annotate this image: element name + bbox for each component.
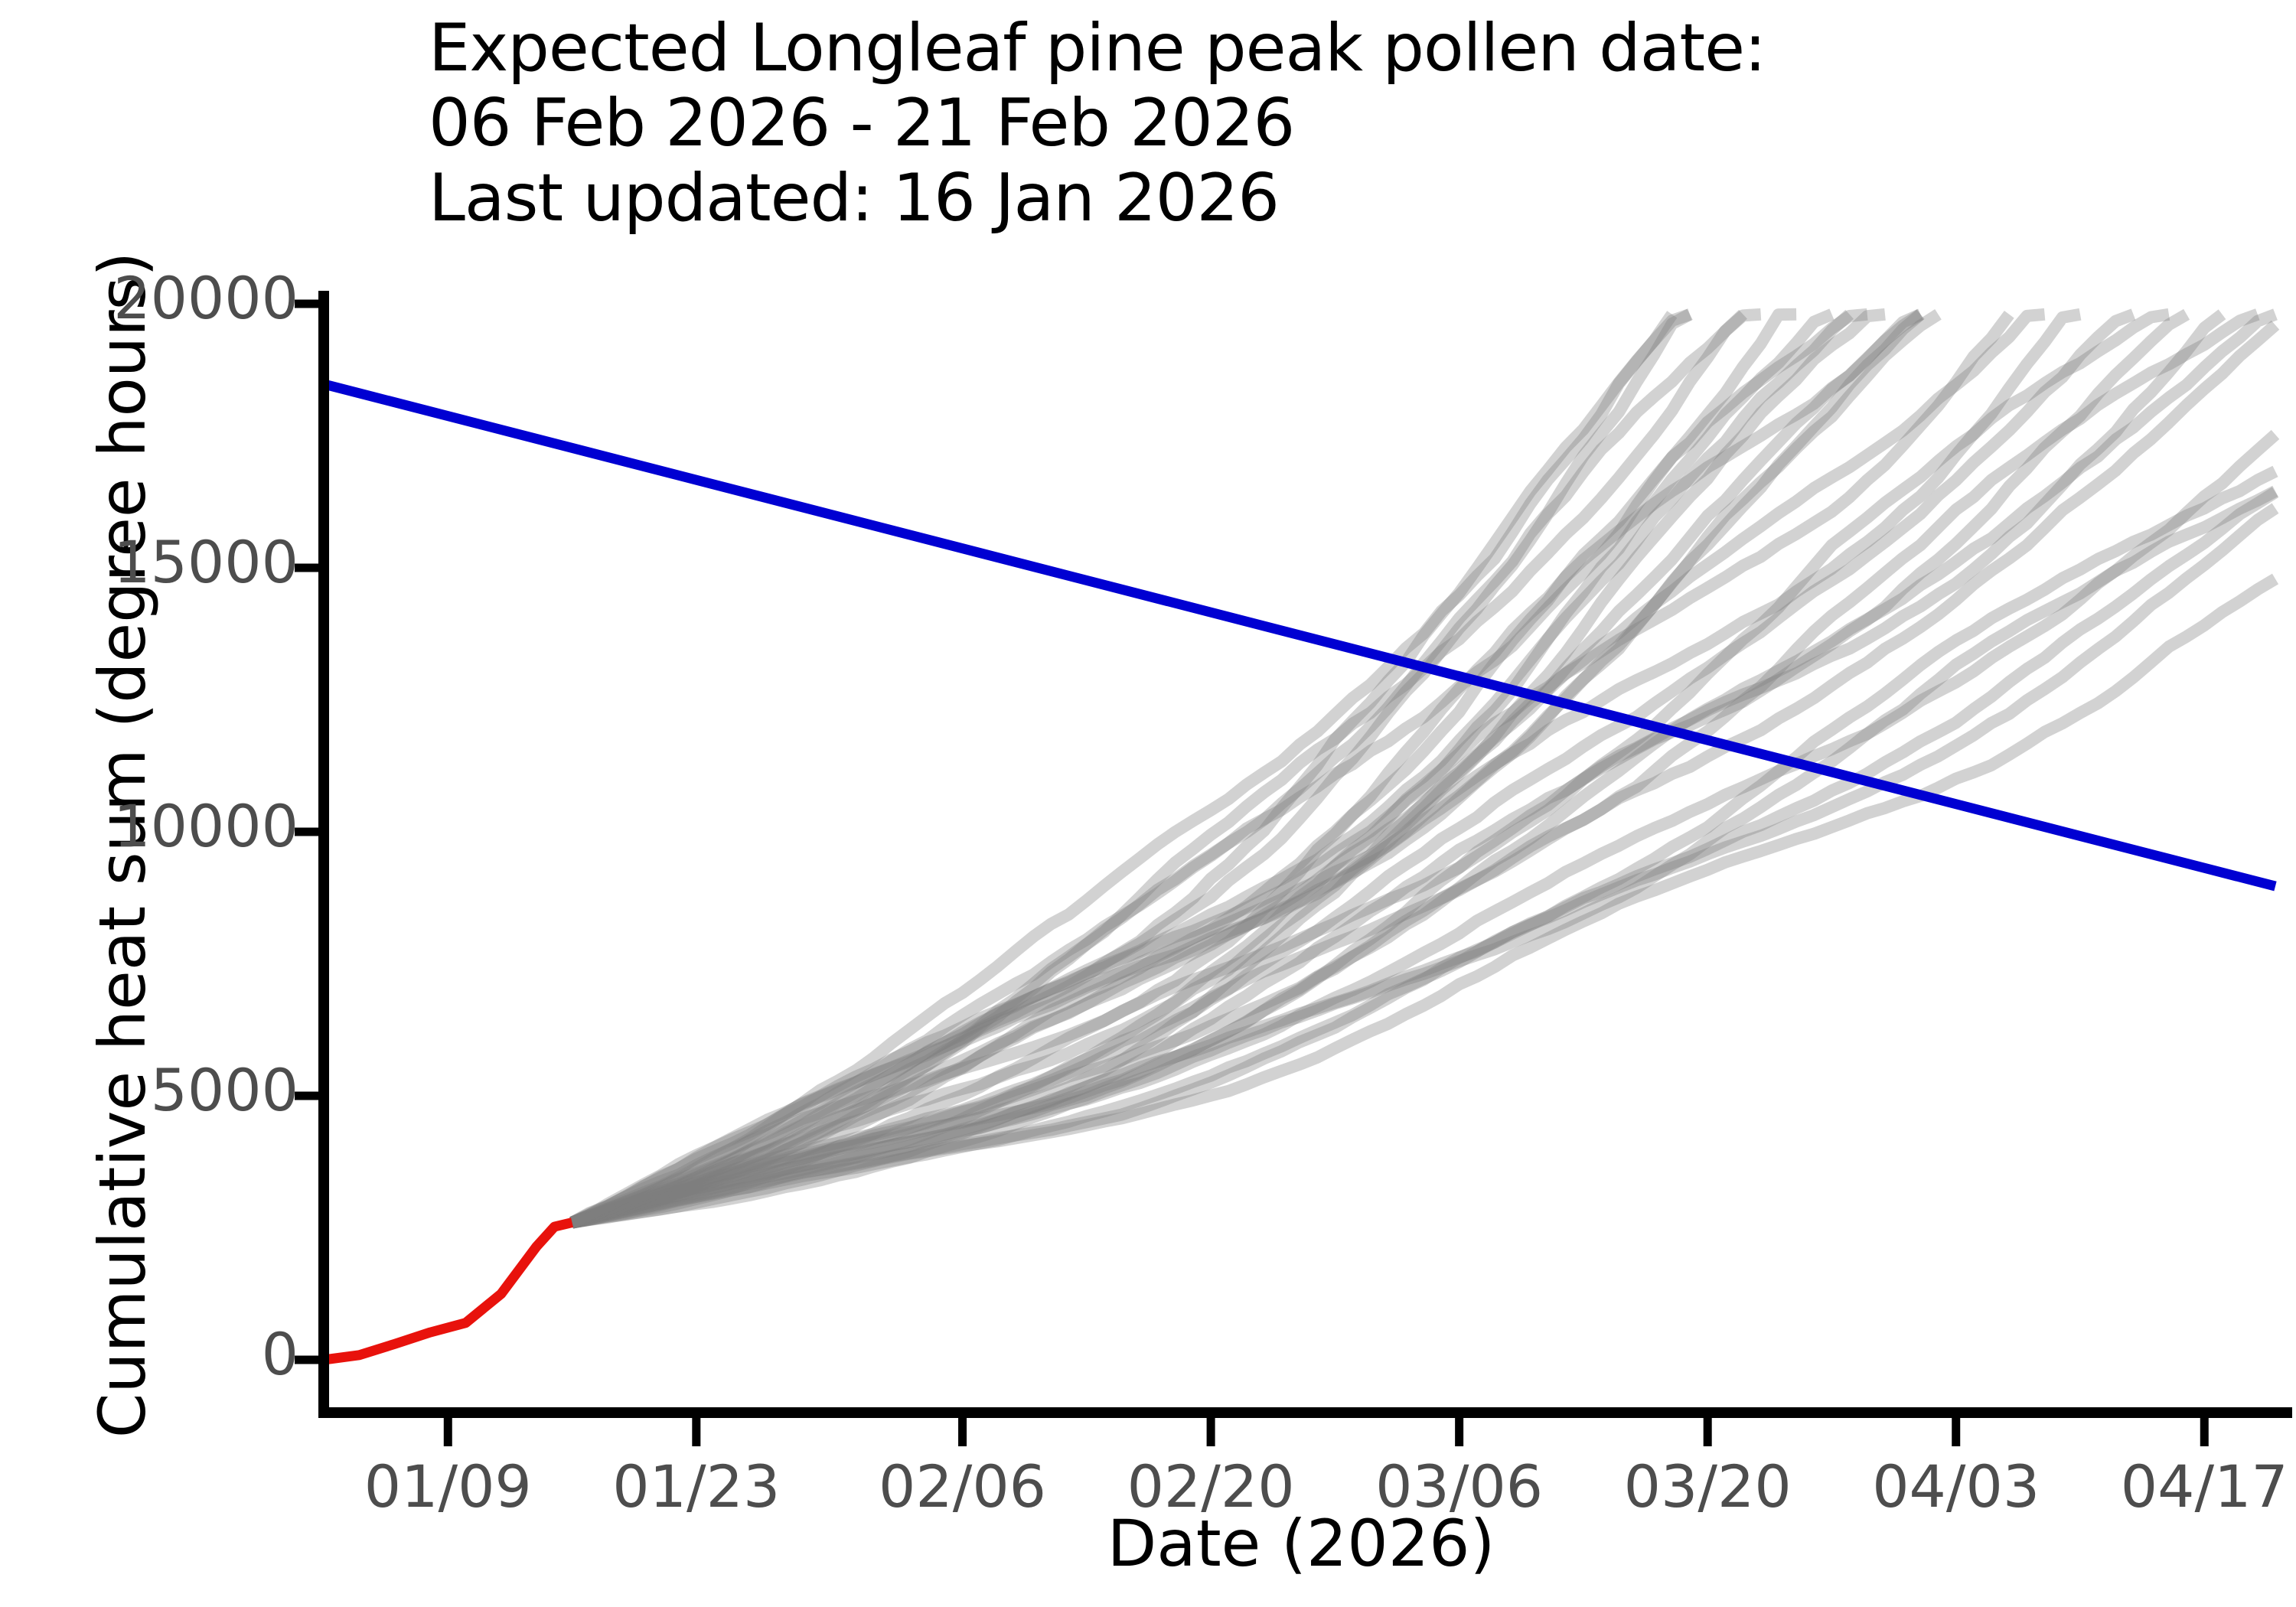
ensemble-line	[572, 315, 2169, 1223]
observed-line	[324, 1223, 572, 1360]
plot-area	[0, 0, 2296, 1607]
chart-figure: Expected Longleaf pine peak pollen date:…	[0, 0, 2296, 1607]
ensemble-lines	[572, 315, 2276, 1223]
